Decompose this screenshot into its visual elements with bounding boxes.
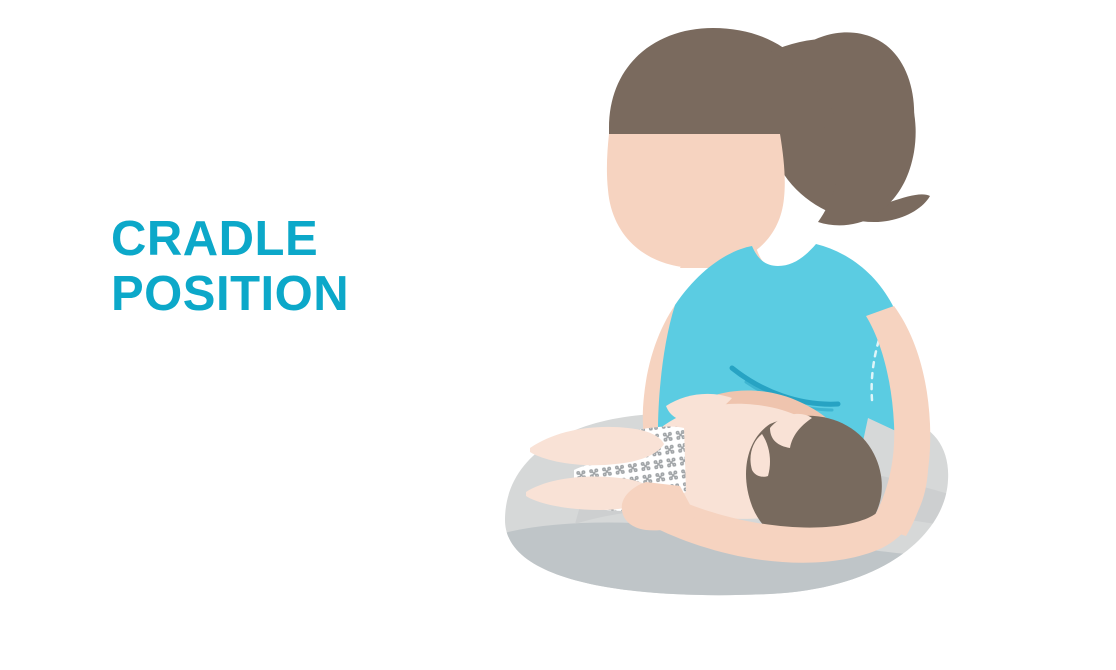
title-line-2: POSITION [111, 267, 531, 322]
mother-face [607, 134, 785, 268]
cradle-position-illustration [470, 0, 1010, 670]
mother-face-group [607, 134, 785, 268]
page-title: CRADLE POSITION [111, 212, 531, 322]
illustration-page: CRADLE POSITION [0, 0, 1116, 670]
title-line-1: CRADLE [111, 212, 531, 267]
